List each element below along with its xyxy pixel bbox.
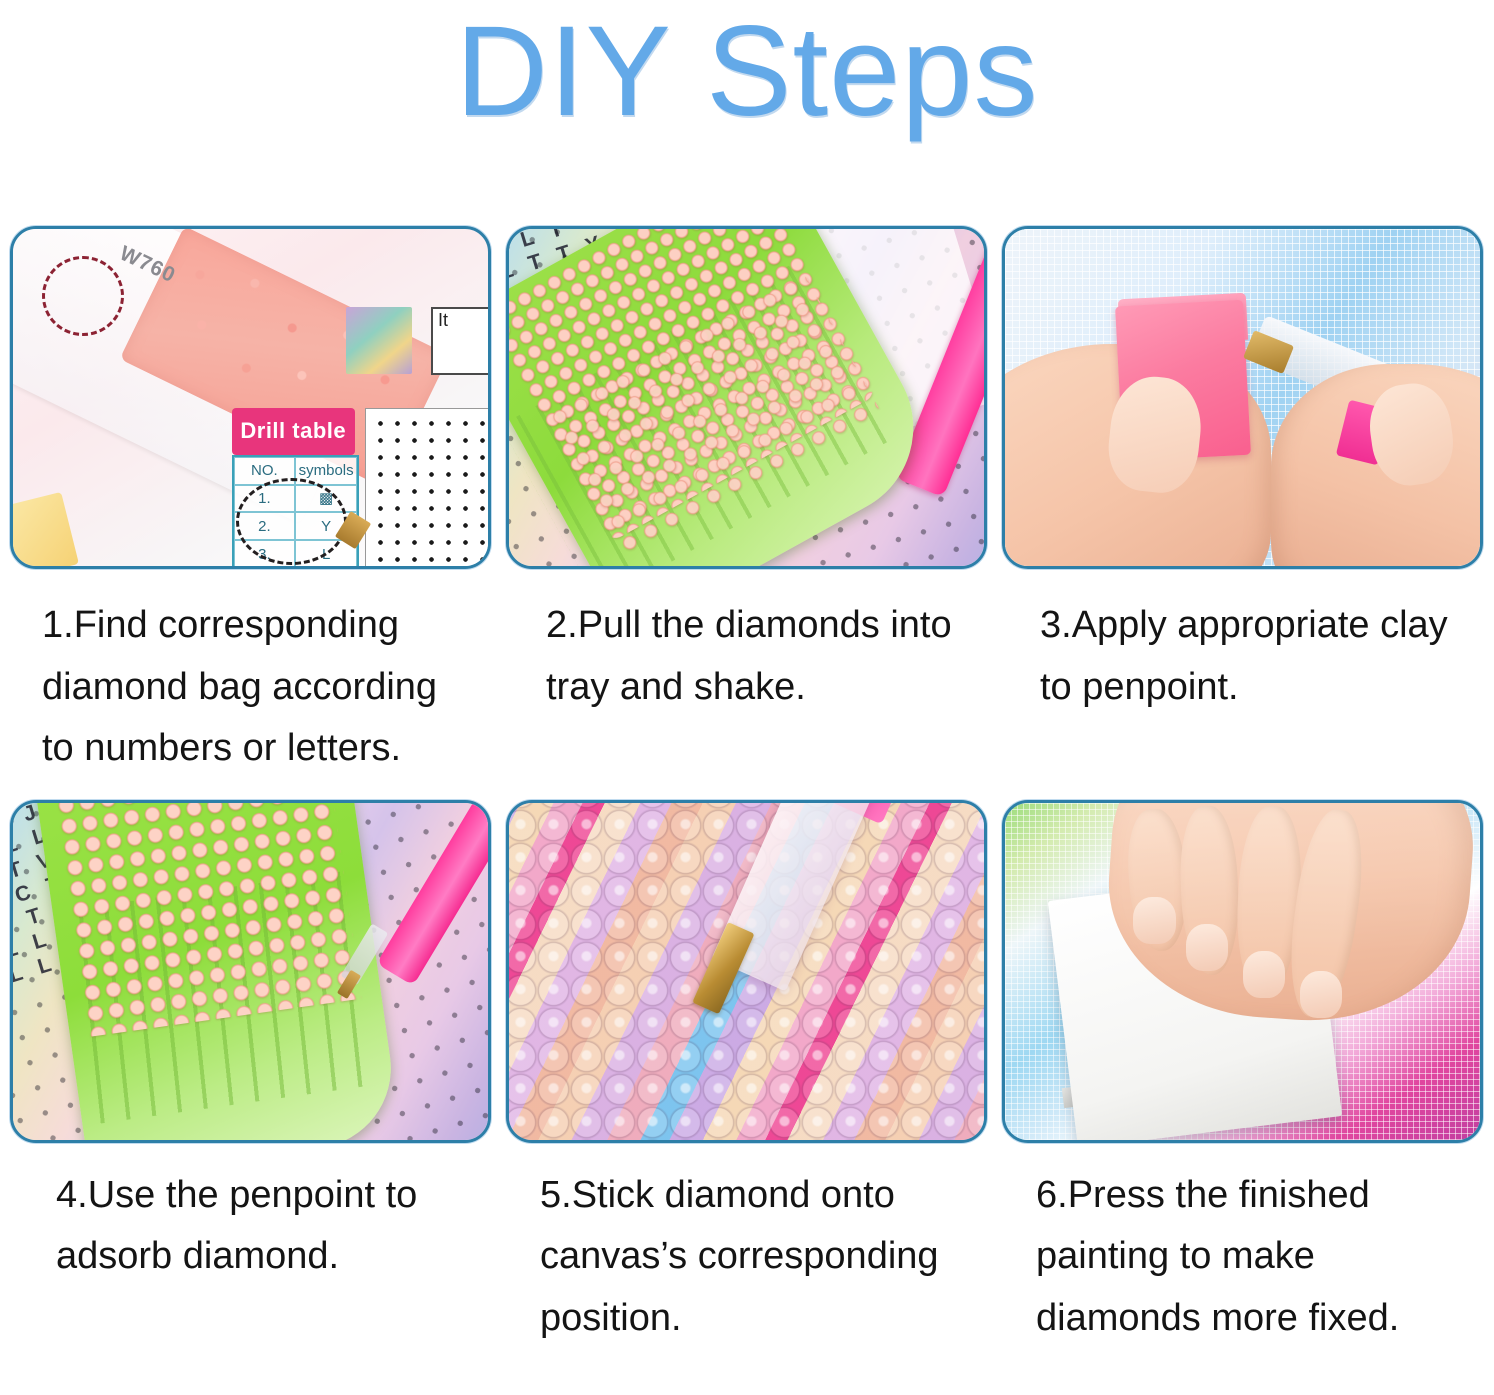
symbol-annotation-circle <box>236 478 347 565</box>
fingernail-ring <box>1243 951 1286 998</box>
step-card-1: W760 It Drill table NO. symbols 1. ▩ 2. … <box>10 226 491 780</box>
step-card-2: X X A M M A A T V T Y C V L T C T F C V … <box>506 226 987 780</box>
step-card-4: V T V L V J T L L V T C V L L J X A T C … <box>10 800 491 1350</box>
step-photo-1: W760 It Drill table NO. symbols 1. ▩ 2. … <box>10 226 491 569</box>
yellow-paper-corner <box>10 492 78 569</box>
step-photo-4: V T V L V J T L L V T C V L L J X A T C … <box>10 800 491 1143</box>
step-card-5: 5.Stick diamond onto canvas’s correspond… <box>506 800 987 1350</box>
penpoint-adsorb-scene: V T V L V J T L L V T C V L L J X A T C … <box>13 803 488 1140</box>
step-caption-2: 2.Pull the diamonds into tray and shake. <box>506 595 987 718</box>
clay-on-penpoint-scene <box>1005 229 1480 566</box>
thumbnail-preview <box>346 307 413 374</box>
step-card-3: 3.Apply appropriate clay to penpoint. <box>1002 226 1483 780</box>
page-title: DIY Steps <box>0 0 1494 152</box>
step-photo-3 <box>1002 226 1483 569</box>
diamond-bag-scene: W760 It Drill table NO. symbols 1. ▩ 2. … <box>13 229 488 566</box>
step-caption-1: 1.Find corresponding diamond bag accordi… <box>10 595 491 780</box>
step-photo-2: X X A M M A A T V T Y C V L T C T F C V … <box>506 226 987 569</box>
step-card-6: 6.Press the finished painting to make di… <box>1002 800 1483 1350</box>
step-caption-5: 5.Stick diamond onto canvas’s correspond… <box>506 1165 987 1350</box>
diy-steps-page: DIY Steps W760 It Drill table NO. <box>0 0 1494 1395</box>
step-caption-3: 3.Apply appropriate clay to penpoint. <box>1002 595 1483 718</box>
step-photo-6 <box>1002 800 1483 1143</box>
drill-table-title: Drill table <box>232 408 356 455</box>
tray-shake-scene: X X A M M A A T V T Y C V L T C T F C V … <box>509 229 984 566</box>
fingernail-index <box>1133 897 1176 944</box>
item-box-text: It <box>438 310 448 331</box>
stick-diamond-scene <box>509 803 984 1140</box>
steps-grid: W760 It Drill table NO. symbols 1. ▩ 2. … <box>10 226 1484 1349</box>
pink-diamonds-pile <box>54 800 361 1037</box>
step-caption-6: 6.Press the finished painting to make di… <box>1002 1165 1483 1350</box>
step-photo-5 <box>506 800 987 1143</box>
fingernail-little <box>1300 971 1343 1018</box>
bag-code-annotation-circle <box>42 256 124 336</box>
press-painting-scene <box>1005 803 1480 1140</box>
item-info-box: It <box>431 307 491 375</box>
fingernail-middle <box>1186 924 1229 971</box>
symbol-dot-grid <box>365 408 492 568</box>
right-hand <box>1271 364 1483 569</box>
step-caption-4: 4.Use the penpoint to adsorb diamond. <box>10 1165 491 1288</box>
